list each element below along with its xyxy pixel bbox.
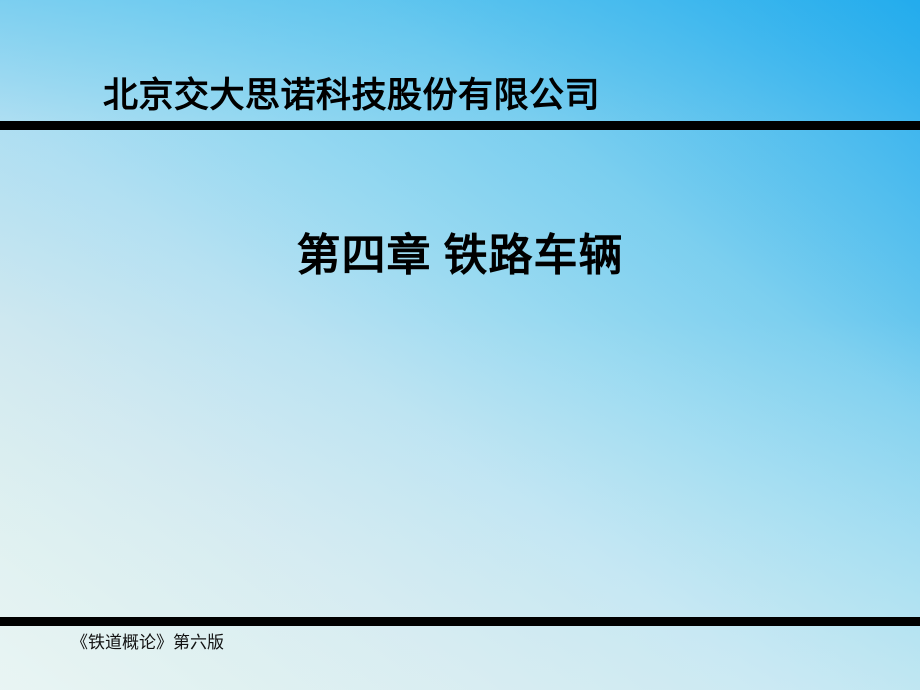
slide-title: 第四章 铁路车辆 [0, 228, 920, 284]
presentation-slide: 北京交大思诺科技股份有限公司 第四章 铁路车辆 《铁道概论》第六版 [0, 0, 920, 690]
header-divider-rule [0, 121, 920, 130]
slide-content-layer: 北京交大思诺科技股份有限公司 第四章 铁路车辆 《铁道概论》第六版 [0, 0, 920, 690]
footer-source-note: 《铁道概论》第六版 [71, 632, 224, 654]
company-name-heading: 北京交大思诺科技股份有限公司 [103, 76, 600, 116]
footer-divider-rule [0, 617, 920, 626]
